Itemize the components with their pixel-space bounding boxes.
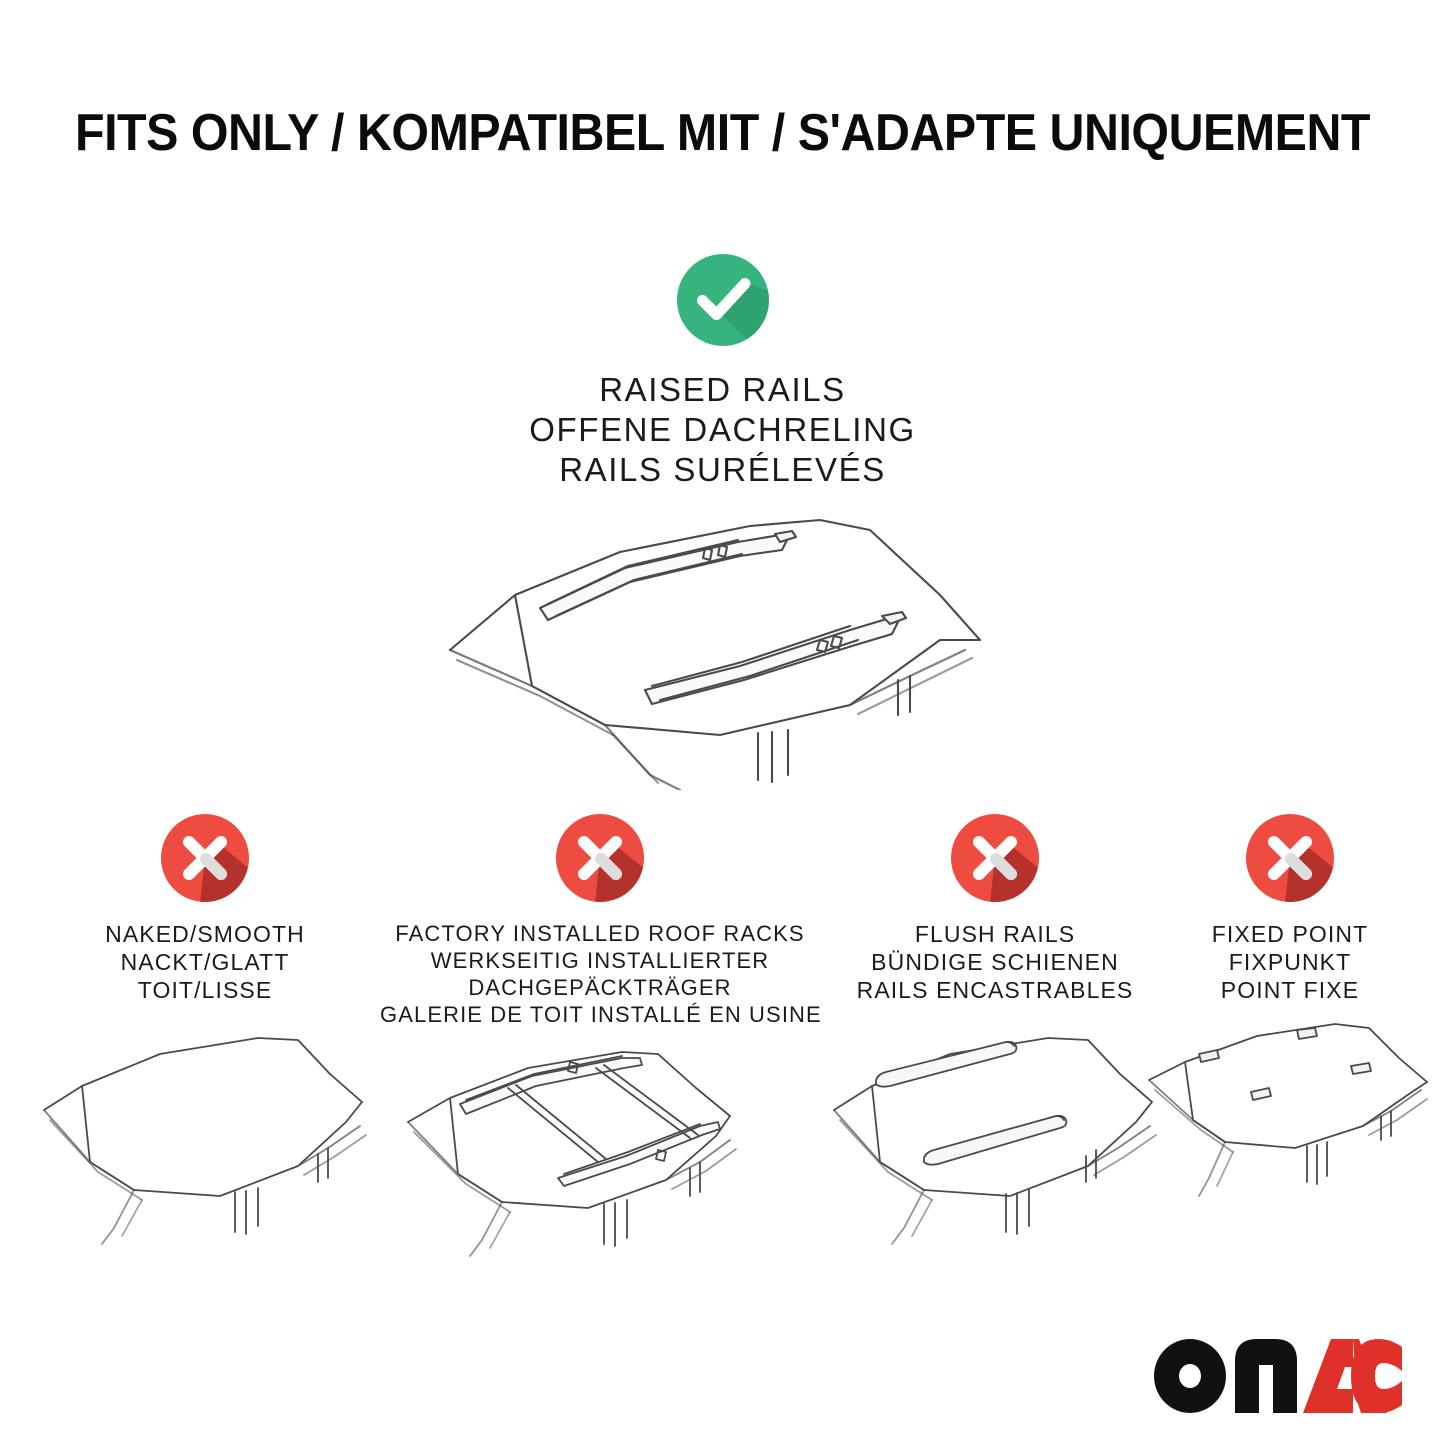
red-x-circle-icon	[949, 812, 1041, 904]
logo-letter-o	[1154, 1339, 1226, 1413]
caption-line-fr: RAILS ENCASTRABLES	[820, 976, 1170, 1004]
omac-logo	[1153, 1337, 1403, 1415]
compatible-line-de: OFFENE DACHRELING	[0, 410, 1445, 450]
caption-line-en: NAKED/SMOOTH	[30, 920, 380, 948]
page-title: FITS ONLY / KOMPATIBEL MIT / S'ADAPTE UN…	[51, 103, 1395, 163]
car-roof-fixed-point-illustration	[1145, 1014, 1415, 1259]
incompatible-caption-fixed-point: FIXED POINT FIXPUNKT POINT FIXE	[1165, 920, 1415, 1004]
caption-line-en: FACTORY INSTALLED ROOF RACKS	[380, 920, 820, 947]
caption-line-de-1: WERKSEITIG INSTALLIERTER	[380, 947, 820, 974]
incompatible-caption-factory-roof-racks: FACTORY INSTALLED ROOF RACKS WERKSEITIG …	[380, 920, 820, 1028]
caption-line-de: NACKT/GLATT	[30, 948, 380, 976]
car-roof-factory-roof-racks-illustration	[380, 1038, 820, 1283]
car-roof-naked-smooth-illustration	[30, 1014, 380, 1259]
caption-line-en: FLUSH RAILS	[820, 920, 1170, 948]
caption-line-de: BÜNDIGE SCHIENEN	[820, 948, 1170, 976]
incompatible-column-flush-rails: FLUSH RAILS BÜNDIGE SCHIENEN RAILS ENCAS…	[820, 812, 1170, 1259]
compatible-block: RAISED RAILS OFFENE DACHRELING RAILS SUR…	[0, 252, 1445, 490]
caption-line-de-2: DACHGEPÄCKTRÄGER	[380, 974, 820, 1001]
car-roof-raised-rails-illustration	[420, 490, 1020, 795]
caption-line-de: FIXPUNKT	[1165, 948, 1415, 976]
logo-letter-m	[1235, 1339, 1297, 1413]
red-x-circle-icon	[554, 812, 646, 904]
incompatible-caption-naked-smooth: NAKED/SMOOTH NACKT/GLATT TOIT/LISSE	[30, 920, 380, 1004]
incompatible-column-fixed-point: FIXED POINT FIXPUNKT POINT FIXE	[1165, 812, 1415, 1259]
fitment-compatibility-infographic: FITS ONLY / KOMPATIBEL MIT / S'ADAPTE UN…	[0, 0, 1445, 1445]
caption-line-fr: GALERIE DE TOIT INSTALLÉ EN USINE	[380, 1001, 820, 1028]
compatible-line-en: RAISED RAILS	[0, 370, 1445, 410]
red-x-circle-icon	[1244, 812, 1336, 904]
incompatible-column-factory-roof-racks: FACTORY INSTALLED ROOF RACKS WERKSEITIG …	[380, 812, 820, 1283]
caption-line-fr: POINT FIXE	[1165, 976, 1415, 1004]
caption-line-en: FIXED POINT	[1165, 920, 1415, 948]
compatible-caption: RAISED RAILS OFFENE DACHRELING RAILS SUR…	[0, 370, 1445, 490]
logo-letter-c	[1351, 1339, 1402, 1413]
red-x-circle-icon	[159, 812, 251, 904]
incompatible-caption-flush-rails: FLUSH RAILS BÜNDIGE SCHIENEN RAILS ENCAS…	[820, 920, 1170, 1004]
incompatible-column-naked-smooth: NAKED/SMOOTH NACKT/GLATT TOIT/LISSE	[30, 812, 380, 1259]
caption-line-fr: TOIT/LISSE	[30, 976, 380, 1004]
compatible-line-fr: RAILS SURÉLEVÉS	[0, 450, 1445, 490]
green-check-circle-icon	[675, 252, 771, 348]
car-roof-flush-rails-illustration	[820, 1014, 1170, 1259]
